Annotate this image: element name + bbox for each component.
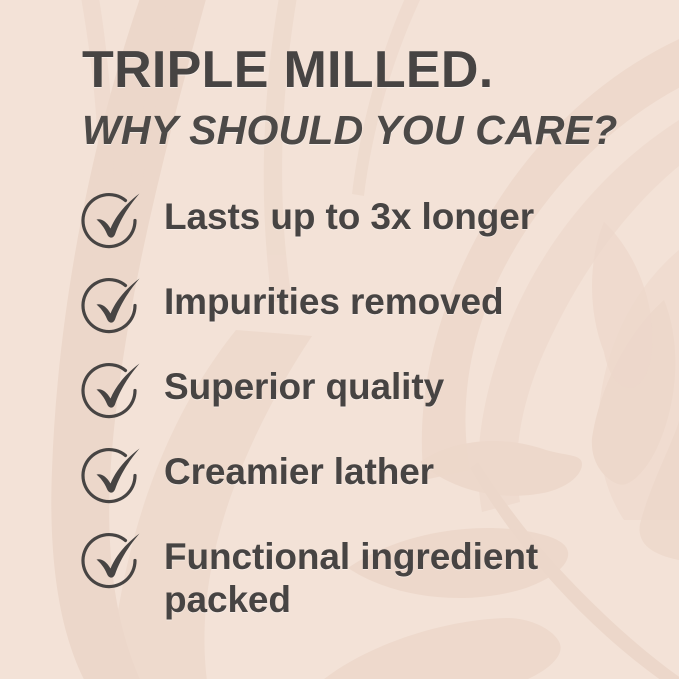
page-subtitle: WHY SHOULD YOU CARE?	[82, 110, 639, 151]
heading-block: TRIPLE MILLED. WHY SHOULD YOU CARE?	[82, 44, 639, 151]
benefit-label: Creamier lather	[164, 444, 594, 493]
poster-content: TRIPLE MILLED. WHY SHOULD YOU CARE? Last…	[0, 0, 679, 679]
benefit-label: Superior quality	[164, 359, 594, 408]
benefit-item: Functional ingredient packed	[82, 529, 639, 622]
circle-check-icon	[82, 275, 144, 331]
page-title: TRIPLE MILLED.	[82, 44, 639, 96]
circle-check-icon	[82, 530, 144, 586]
benefit-label: Functional ingredient packed	[164, 529, 594, 622]
benefit-label: Lasts up to 3x longer	[164, 189, 594, 238]
benefit-item: Lasts up to 3x longer	[82, 189, 639, 245]
benefit-item: Impurities removed	[82, 274, 639, 330]
circle-check-icon	[82, 360, 144, 416]
promo-poster: TRIPLE MILLED. WHY SHOULD YOU CARE? Last…	[0, 0, 679, 679]
benefit-list: Lasts up to 3x longer Impurities removed	[82, 189, 639, 622]
benefit-item: Superior quality	[82, 359, 639, 415]
benefit-item: Creamier lather	[82, 444, 639, 500]
circle-check-icon	[82, 190, 144, 246]
circle-check-icon	[82, 445, 144, 501]
benefit-label: Impurities removed	[164, 274, 594, 323]
